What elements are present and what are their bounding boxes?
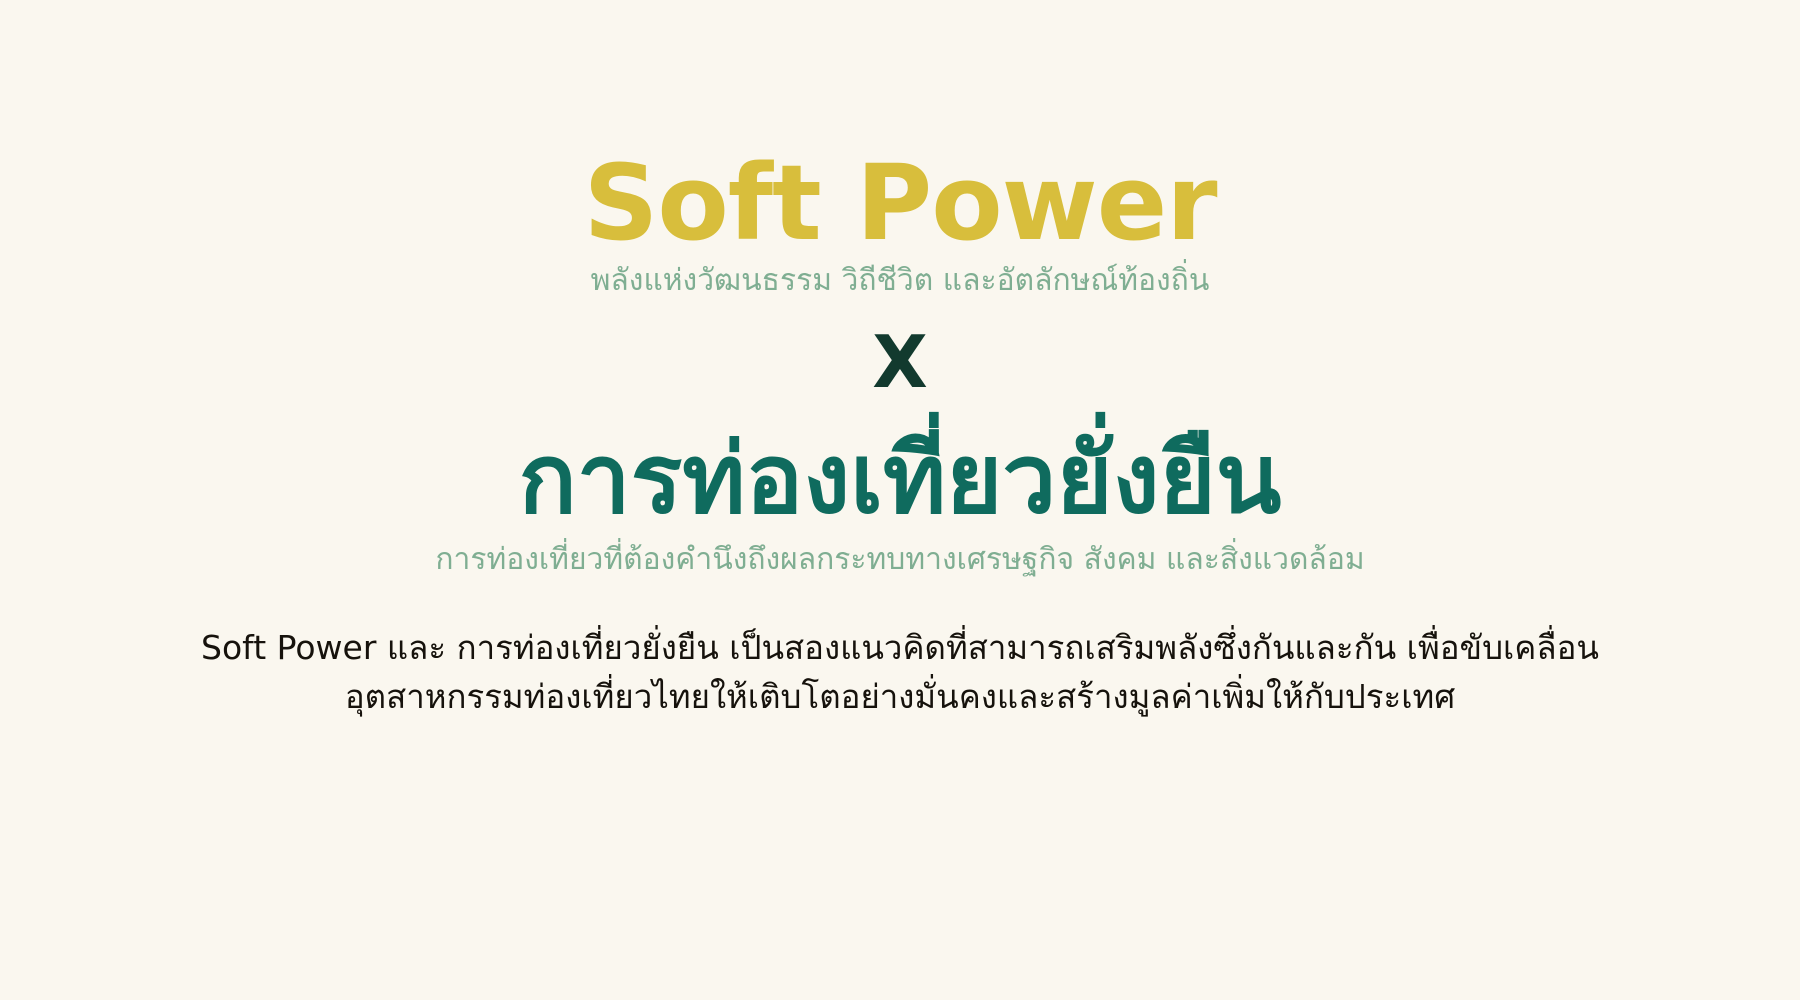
body-copy: Soft Power และ การท่องเที่ยวยั่งยืน เป็น… (120, 623, 1680, 722)
topic-block: การท่องเที่ยวยั่งยืน การท่องเที่ยวที่ต้อ… (435, 428, 1364, 579)
brand-block: Soft Power พลังแห่งวัฒนธรรม วิถีชีวิต แล… (583, 150, 1216, 300)
cross-separator: X (872, 326, 928, 398)
topic-title: การท่องเที่ยวยั่งยืน (435, 428, 1364, 532)
body-line-2: อุตสาหกรรมท่องเที่ยวไทยให้เติบโตอย่างมั่… (120, 672, 1680, 722)
brand-subtitle: พลังแห่งวัฒนธรรม วิถีชีวิต และอัตลักษณ์ท… (583, 262, 1216, 300)
brand-title: Soft Power (583, 150, 1216, 256)
topic-subtitle: การท่องเที่ยวที่ต้องคำนึงถึงผลกระทบทางเศ… (435, 541, 1364, 579)
slide-root: Soft Power พลังแห่งวัฒนธรรม วิถีชีวิต แล… (0, 0, 1800, 1000)
body-line-1: Soft Power และ การท่องเที่ยวยั่งยืน เป็น… (120, 623, 1680, 673)
